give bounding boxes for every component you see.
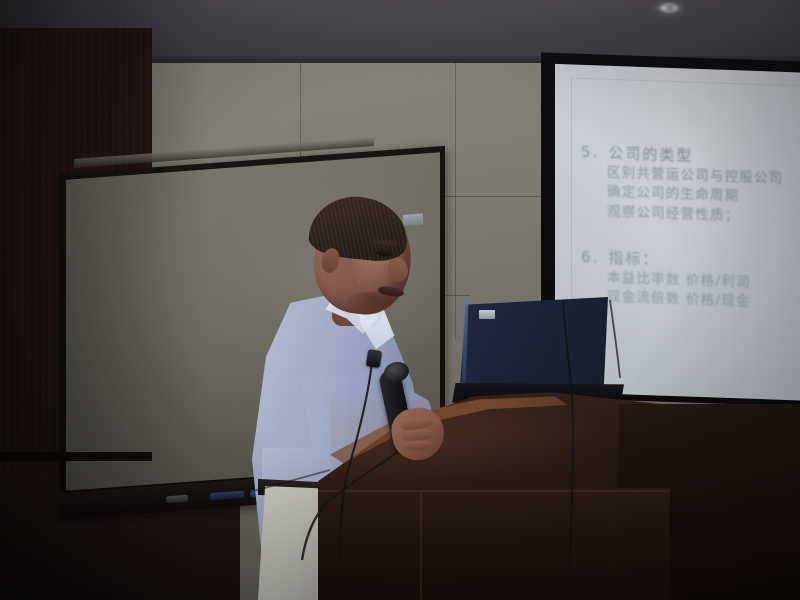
podium-seam [612, 500, 614, 600]
laptop-sticker [479, 310, 495, 319]
photograph-scene: 5.公司的类型 区别共营运公司与控股公司 确定公司的生命周期 观察公司经营性质；… [0, 0, 800, 600]
slide-heading-text: 指标： [608, 249, 659, 269]
podium-seam [318, 490, 670, 492]
podium-seam [420, 492, 422, 600]
slide-item-6: 6.指标： 本益比率数 价格/利润 现金流倍数 价格/现金 [581, 247, 800, 314]
wall-base-trim [0, 452, 152, 461]
slide-content: 5.公司的类型 区别共营运公司与控股公司 确定公司的生命周期 观察公司经营性质；… [581, 142, 800, 399]
whiteboard-marker [210, 491, 244, 500]
whiteboard-logo [403, 213, 423, 225]
slide-item-5: 5.公司的类型 区别共营运公司与控股公司 确定公司的生命周期 观察公司经营性质； [581, 142, 800, 228]
slide-number: 5. [581, 143, 599, 162]
whiteboard-marker [166, 495, 188, 504]
slide-number: 6. [581, 248, 599, 267]
nose [388, 258, 408, 282]
podium-front-panel [318, 488, 670, 600]
ceiling-downlight-icon [655, 2, 683, 15]
slide-heading-text: 公司的类型 [608, 144, 693, 165]
lapel-microphone [366, 349, 382, 368]
chin-shadow [344, 292, 400, 314]
